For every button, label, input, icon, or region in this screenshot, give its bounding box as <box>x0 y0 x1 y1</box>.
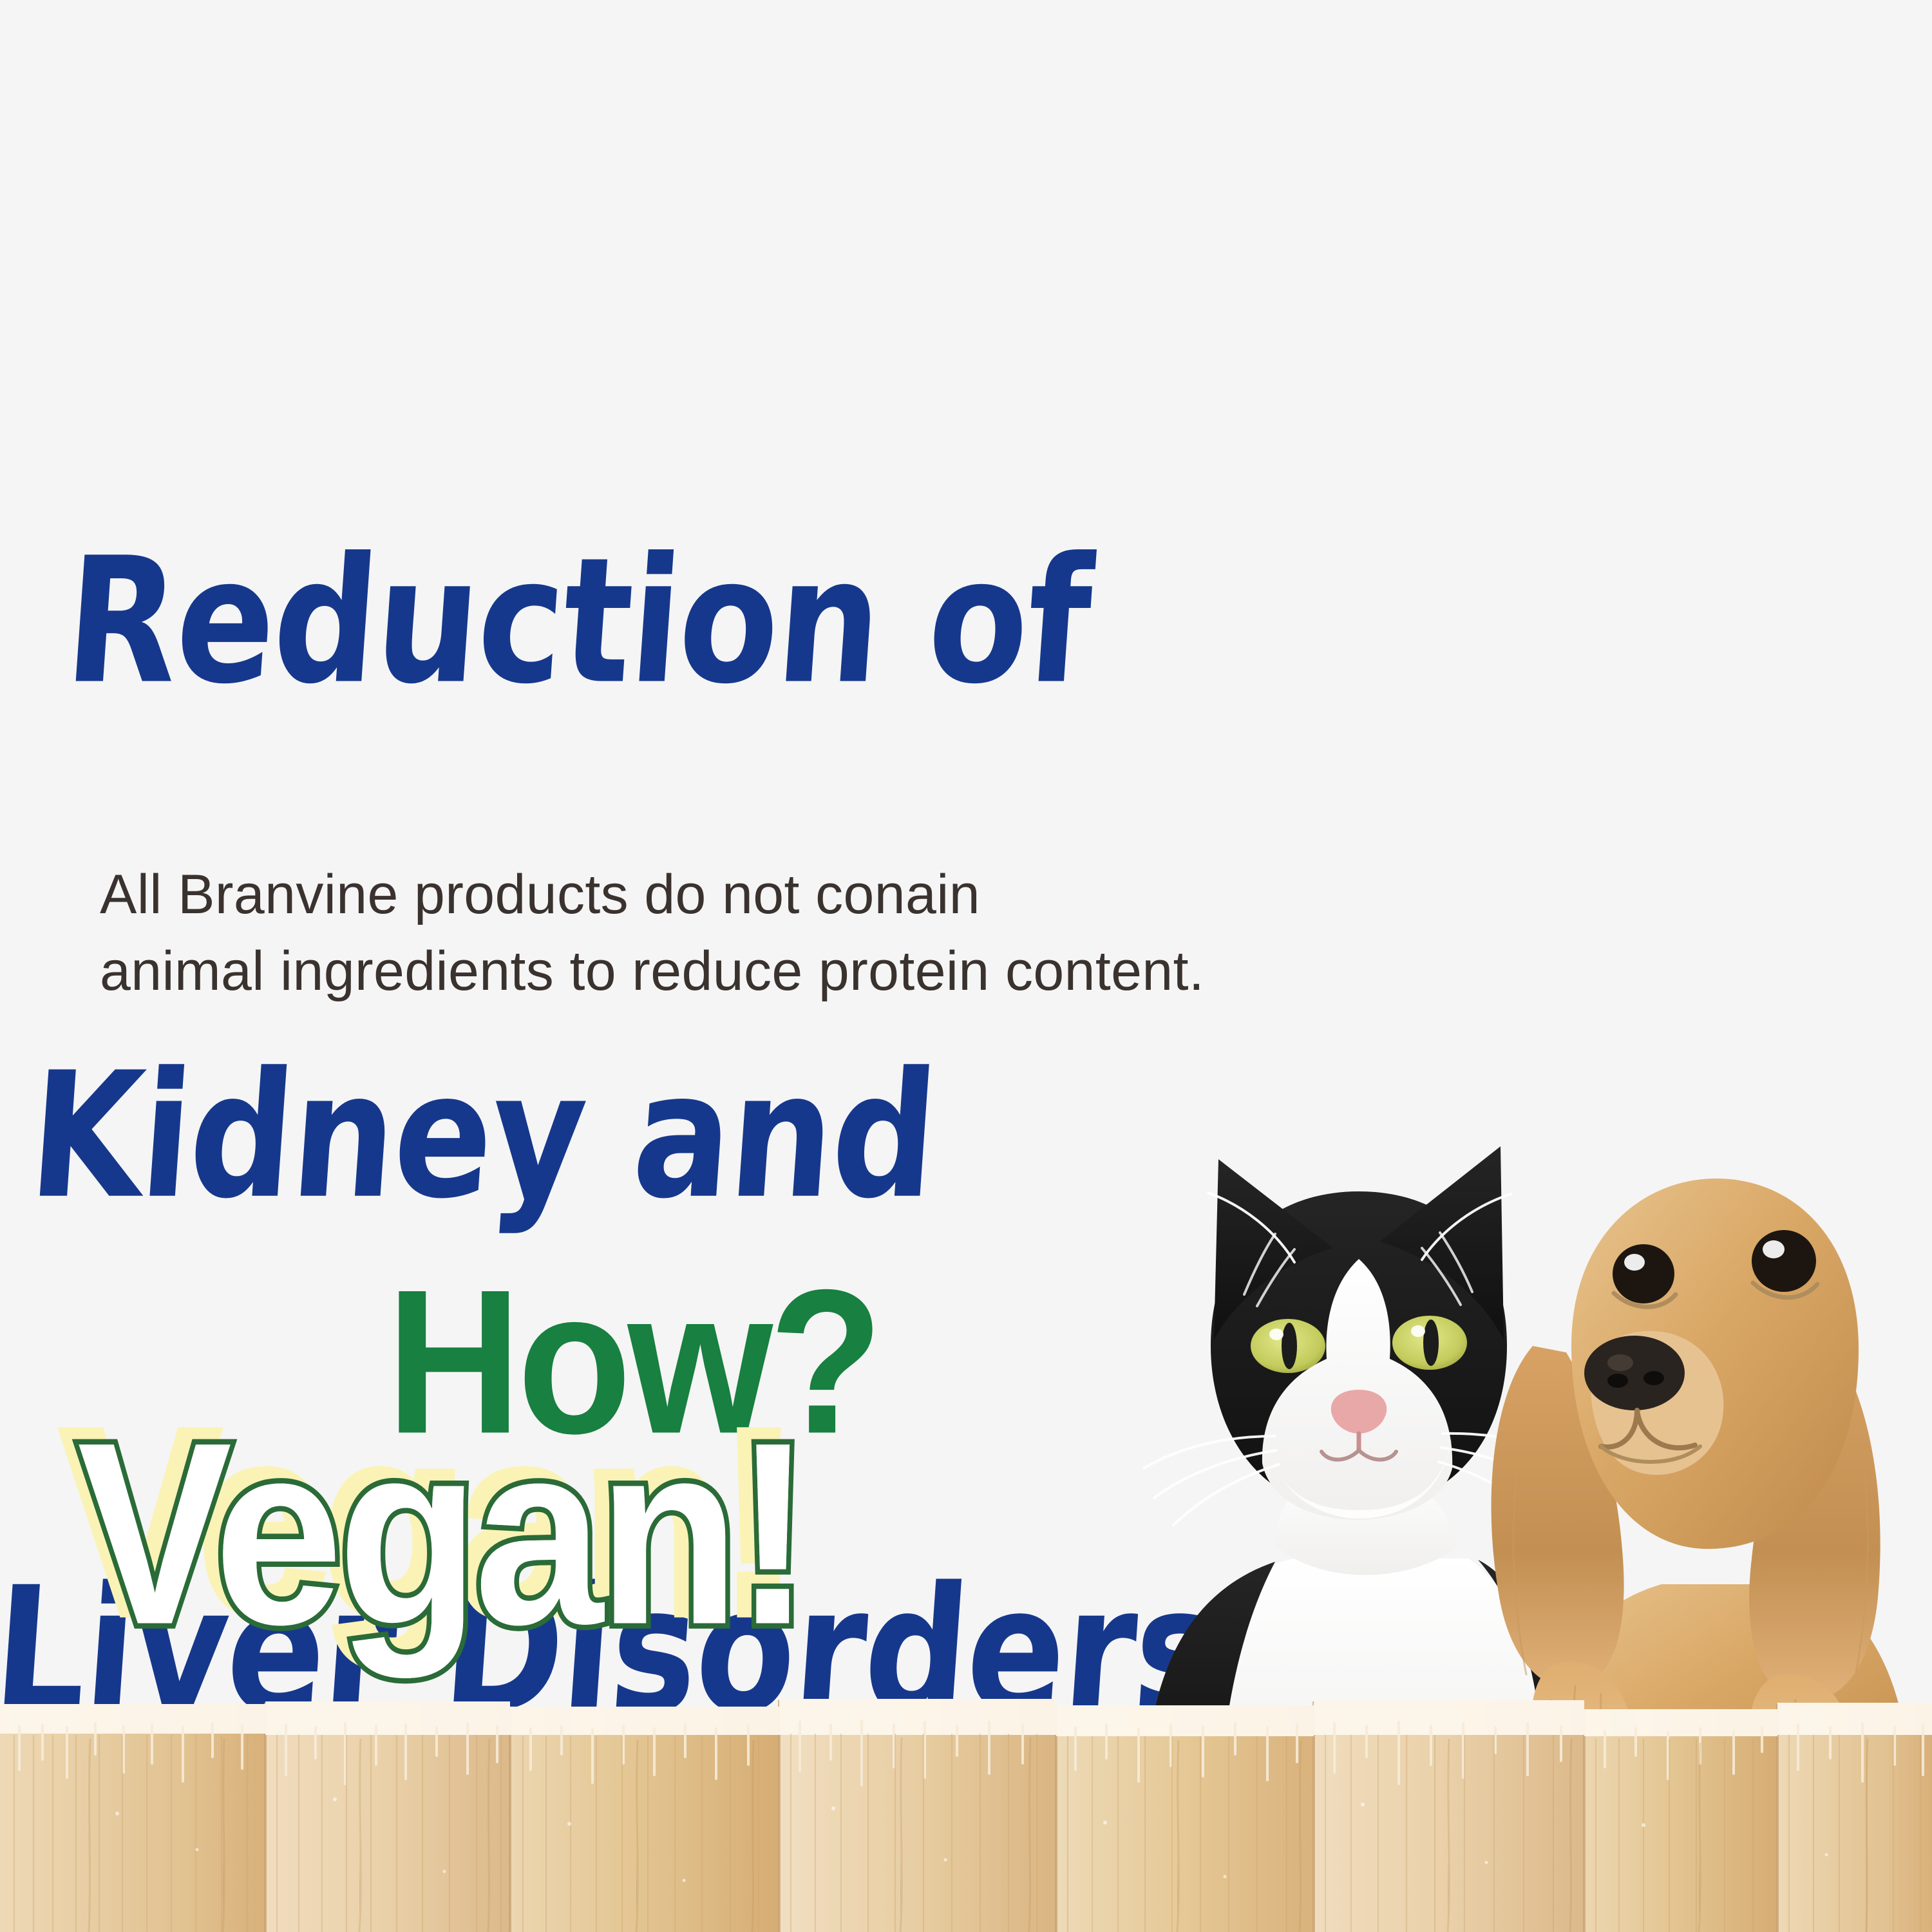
wooden-fence <box>0 1687 1932 1932</box>
callout-answer: Vegan! Vegan! Vegan! <box>77 1404 806 1663</box>
body-copy: All Branvine products do not conain anim… <box>100 857 1787 1009</box>
headline-line-1: Reduction of <box>61 536 1510 708</box>
callout-answer-fill: Vegan! <box>77 1388 806 1678</box>
body-copy-line-1: All Branvine products do not conain <box>100 857 1787 933</box>
poster-canvas: Reduction of Kidney and Liver Disorders … <box>0 0 1932 1932</box>
body-copy-line-2: animal ingredients to reduce protein con… <box>100 933 1787 1010</box>
